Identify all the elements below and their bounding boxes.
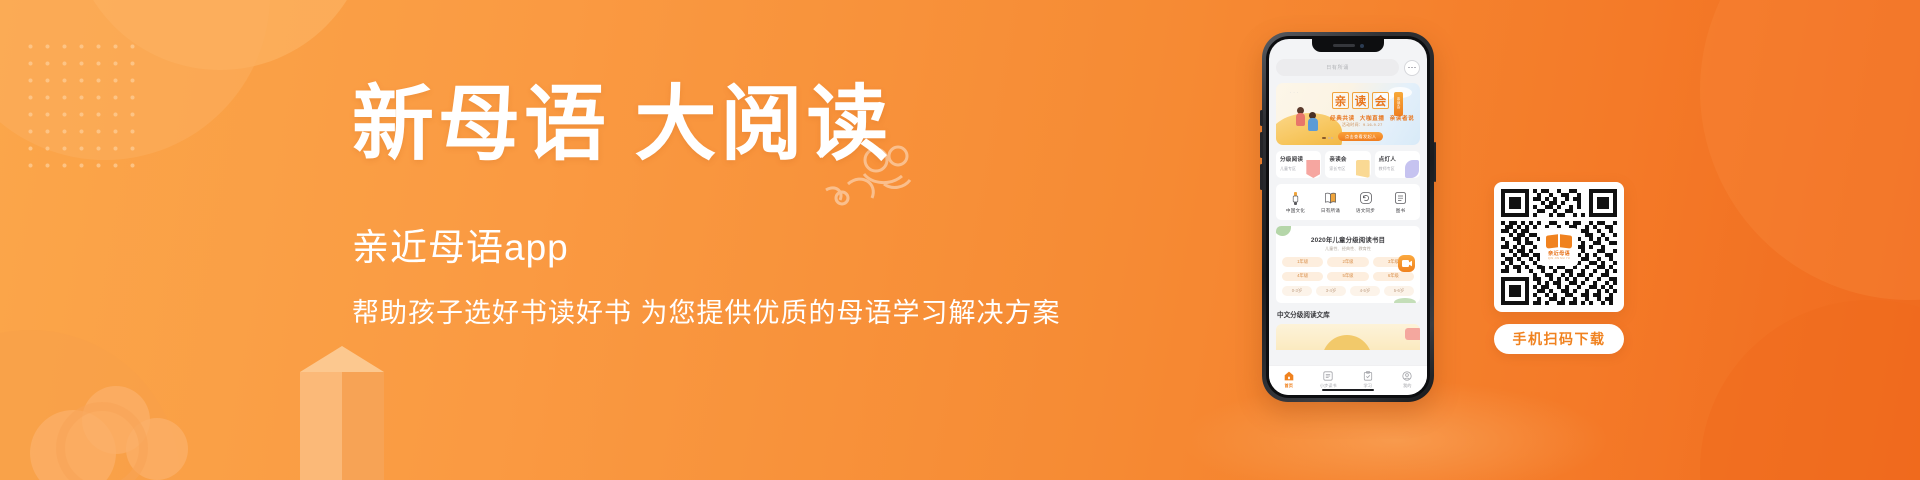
tab-study[interactable]: 学习 — [1348, 370, 1388, 389]
qr-code-card: 亲近母语 QIN JIN MU YU — [1494, 182, 1624, 312]
book-logo-icon — [1546, 235, 1572, 248]
app-name: 亲近母语app — [352, 228, 1032, 269]
grade-chip[interactable]: 4年级 — [1282, 272, 1323, 282]
entry-card-parent-club[interactable]: 亲读会 家长专区 — [1325, 151, 1370, 178]
grade-chip-row: 1年级 2年级 3年级 — [1282, 257, 1414, 267]
app-promo-banner: 新母语 大阅读 亲近母语app 帮助孩子选好书读好书 为您提供优质的母语学习解决… — [0, 0, 1920, 480]
search-input[interactable]: 日有所诵 — [1276, 59, 1399, 76]
person-icon — [1388, 370, 1428, 381]
grade-chip[interactable]: 6年级 — [1373, 272, 1414, 282]
hero-title: 亲 读 会 亲读会 — [1332, 92, 1403, 116]
entry-card-teacher[interactable]: 点灯人 教师专区 — [1375, 151, 1420, 178]
brand-name: 亲近母语 — [1548, 250, 1570, 257]
open-book-icon — [1313, 191, 1348, 205]
brand-name-pinyin: QIN JIN MU YU — [1548, 257, 1570, 260]
video-play-icon[interactable] — [1398, 255, 1415, 272]
earpiece-speaker-icon — [1333, 44, 1355, 47]
tab-label: 首页 — [1269, 383, 1309, 389]
entry-cards: 分级阅读 儿童专区 亲读会 家长专区 点灯人 教师专区 — [1276, 151, 1420, 178]
phone-notch — [1312, 39, 1384, 52]
hero-banner[interactable]: ··· 亲 读 会 亲读会 经典共读 大咖直播 亲读者说 活动时间：9 — [1276, 83, 1420, 145]
grade-chip[interactable]: 1年级 — [1282, 257, 1323, 267]
search-placeholder: 日有所诵 — [1326, 64, 1349, 71]
age-chip[interactable]: 5-6岁 — [1384, 286, 1414, 296]
search-row: 日有所诵 — [1276, 59, 1420, 76]
phone-power-button — [1434, 142, 1437, 182]
carousel-dots[interactable] — [1322, 137, 1333, 139]
phone-screen: 日有所诵 ··· — [1269, 39, 1427, 395]
quick-icon-row: 中国文化 日有所诵 语文同步 — [1276, 184, 1420, 220]
phone-mockup: 日有所诵 ··· — [1262, 32, 1434, 402]
background-blob-bottom-left — [0, 330, 180, 480]
hero-title-char: 亲 — [1332, 92, 1349, 109]
reading-icon — [1309, 370, 1349, 381]
hero-date: 活动时间：9.16-9.27 — [1342, 123, 1383, 128]
phone-bezel: 日有所诵 ··· — [1266, 36, 1430, 398]
hero-badge: 亲读会 — [1394, 92, 1403, 116]
tagline: 帮助孩子选好书读好书 为您提供优质的母语学习解决方案 — [352, 297, 1032, 329]
tab-reading[interactable]: 小步读书 — [1309, 370, 1349, 389]
qr-download-block: 亲近母语 QIN JIN MU YU 手机扫码下载 — [1494, 182, 1624, 354]
booklist-subtitle: 儿童性、经典性、教育性 — [1282, 246, 1414, 252]
phone-volume-up — [1260, 132, 1263, 158]
quick-icon-chinese-culture[interactable]: 中国文化 — [1278, 191, 1313, 214]
background-blob-top-left — [0, 0, 270, 160]
cloud-decoration — [30, 376, 190, 480]
page-title: 新母语 大阅读 — [352, 84, 1032, 166]
quick-icon-label: 日有所诵 — [1313, 208, 1348, 214]
quick-icon-label: 语文同步 — [1348, 208, 1383, 214]
background-blob-top-left-2 — [70, 0, 370, 70]
phone-volume-down — [1260, 164, 1263, 190]
tab-profile[interactable]: 我的 — [1388, 370, 1428, 389]
child-illustration — [1296, 113, 1305, 126]
library-card[interactable] — [1276, 324, 1420, 350]
background-blob-right — [1700, 0, 1920, 300]
book-icon — [1383, 191, 1418, 205]
app-content: 日有所诵 ··· — [1269, 39, 1427, 350]
grade-chip-row: 4年级 5年级 6年级 — [1282, 272, 1414, 282]
headline-block: 新母语 大阅读 亲近母语app 帮助孩子选好书读好书 为您提供优质的母语学习解决… — [352, 84, 1032, 329]
refresh-square-icon — [1348, 191, 1383, 205]
ring-decoration — [56, 402, 148, 480]
clipboard-check-icon — [1348, 370, 1388, 381]
grade-chip[interactable]: 5年级 — [1327, 272, 1368, 282]
dot-grid-decoration — [22, 38, 138, 174]
bookmark-shape-icon — [1306, 160, 1320, 178]
grade-chip[interactable]: 2年级 — [1327, 257, 1368, 267]
background-blob-bottom-right — [1700, 300, 1920, 480]
hero-sub-item: 大咖直播 — [1360, 114, 1385, 122]
hero-title-char: 读 — [1352, 92, 1369, 109]
page-shape-icon — [1356, 160, 1370, 178]
leaf-decoration — [1394, 298, 1416, 303]
phone-mute-switch — [1260, 110, 1263, 126]
quick-icon-books[interactable]: 图书 — [1383, 191, 1418, 214]
hero-title-char: 会 — [1372, 92, 1389, 109]
quick-icon-label: 图书 — [1383, 208, 1418, 214]
age-chip[interactable]: 0-3岁 — [1282, 286, 1312, 296]
hero-sub-item: 经典共读 — [1330, 114, 1355, 122]
home-icon — [1269, 370, 1309, 381]
front-camera-icon — [1360, 44, 1364, 48]
hero-subtitle: 经典共读 大咖直播 亲读者说 — [1330, 114, 1414, 122]
brush-icon — [1278, 191, 1313, 205]
booklist-title: 2020年儿童分级阅读书目 — [1282, 235, 1414, 244]
quick-icon-textbook-sync[interactable]: 语文同步 — [1348, 191, 1383, 214]
entry-card-graded-reading[interactable]: 分级阅读 儿童专区 — [1276, 151, 1321, 178]
download-button[interactable]: 手机扫码下载 — [1494, 324, 1624, 354]
birds-icon: ··· — [1290, 90, 1300, 95]
child-illustration — [1308, 118, 1318, 131]
age-chip[interactable]: 4-5岁 — [1350, 286, 1380, 296]
tab-label: 我的 — [1388, 383, 1428, 389]
quick-icon-label: 中国文化 — [1278, 208, 1313, 214]
qr-center-logo: 亲近母语 QIN JIN MU YU — [1540, 228, 1578, 266]
hero-cta-button[interactable]: 点击查看发起人 — [1338, 132, 1383, 141]
download-button-label: 手机扫码下载 — [1513, 329, 1606, 349]
card-tag — [1405, 328, 1420, 340]
lamp-shape-icon — [1405, 160, 1419, 178]
more-dots-icon[interactable] — [1404, 60, 1420, 76]
cube-decoration — [300, 346, 384, 480]
age-chip-row: 0-3岁 3-4岁 4-5岁 5-6岁 — [1282, 286, 1414, 296]
library-section-title: 中文分级阅读文库 — [1277, 309, 1420, 319]
hero-sub-item: 亲读者说 — [1390, 114, 1415, 122]
home-indicator — [1322, 389, 1374, 392]
booklist-card[interactable]: 2020年儿童分级阅读书目 儿童性、经典性、教育性 1年级 2年级 3年级 4年… — [1276, 226, 1420, 303]
sun-illustration — [1322, 335, 1372, 350]
age-chip[interactable]: 3-4岁 — [1316, 286, 1346, 296]
tab-home[interactable]: 首页 — [1269, 370, 1309, 389]
quick-icon-daily-recite[interactable]: 日有所诵 — [1313, 191, 1348, 214]
